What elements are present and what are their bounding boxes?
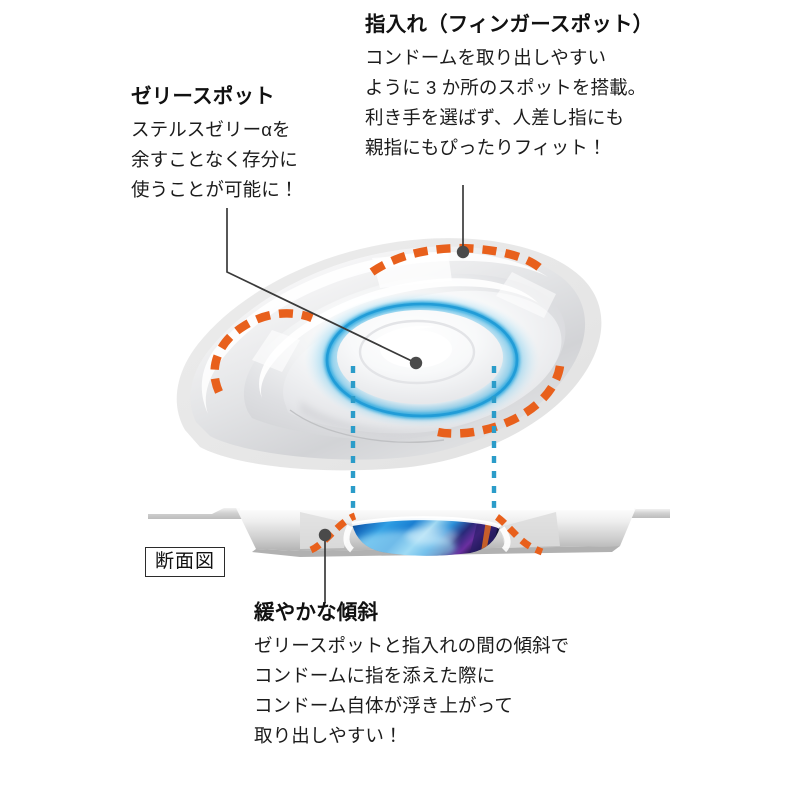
leader-dot-slope-icon [319,529,331,541]
callout-jelly-spot-title: ゼリースポット [131,84,298,110]
callout-line: ゼリースポットと指入れの間の傾斜で [254,631,569,661]
callout-gentle-slope-body: ゼリースポットと指入れの間の傾斜で コンドームに指を添えた際に コンドーム自体が… [254,631,569,751]
callout-finger-spot: 指入れ（フィンガースポット） コンドームを取り出しやすい ように 3 か所のスポ… [365,12,653,163]
product-feature-diagram: ゼリースポット ステルスゼリーαを 余すことなく存分に 使うことが可能に！ 指入… [0,0,800,800]
callout-finger-spot-body: コンドームを取り出しやすい ように 3 か所のスポットを搭載。 利き手を選ばず、… [365,43,653,163]
callout-line: 利き手を選ばず、人差し指にも [365,103,653,133]
callout-line: ステルスゼリーαを [131,115,298,145]
case-cross-section [148,508,670,563]
jelly-spot-ring [327,304,517,416]
callout-jelly-spot: ゼリースポット ステルスゼリーαを 余すことなく存分に 使うことが可能に！ [131,84,298,205]
callout-line: 余すことなく存分に [131,145,298,175]
leader-dot-finger-icon [457,246,469,258]
callout-line: コンドーム自体が浮き上がって [254,691,569,721]
callout-line: コンドームに指を添えた際に [254,661,569,691]
cross-section-label: 断面図 [145,547,225,577]
callout-line: ように 3 か所のスポットを搭載。 [365,73,653,103]
finger-spot-arc-right [438,366,560,434]
callout-line: 親指にもぴったりフィット！ [365,133,653,163]
slope-dash-left [311,516,355,550]
callout-line: コンドームを取り出しやすい [365,43,653,73]
jelly-spot-glow [304,292,540,428]
projection-lines [353,366,494,523]
callout-gentle-slope-title: 緩やかな傾斜 [254,600,569,626]
finger-spot-arc-top [372,248,542,272]
leader-dot-jelly-icon [410,357,422,369]
callout-finger-spot-title: 指入れ（フィンガースポット） [365,12,653,38]
jelly-pocket [352,518,500,556]
finger-spot-arc-left [215,313,312,392]
slope-dash-right [497,517,542,552]
callout-line: 取り出しやすい！ [254,721,569,751]
leader-jelly-spot [227,208,416,363]
leader-dots [319,246,469,541]
case-top-view [177,238,602,470]
leader-lines [227,185,463,603]
callout-jelly-spot-body: ステルスゼリーαを 余すことなく存分に 使うことが可能に！ [131,115,298,205]
callout-gentle-slope: 緩やかな傾斜 ゼリースポットと指入れの間の傾斜で コンドームに指を添えた際に コ… [254,600,569,751]
callout-line: 使うことが可能に！ [131,175,298,205]
